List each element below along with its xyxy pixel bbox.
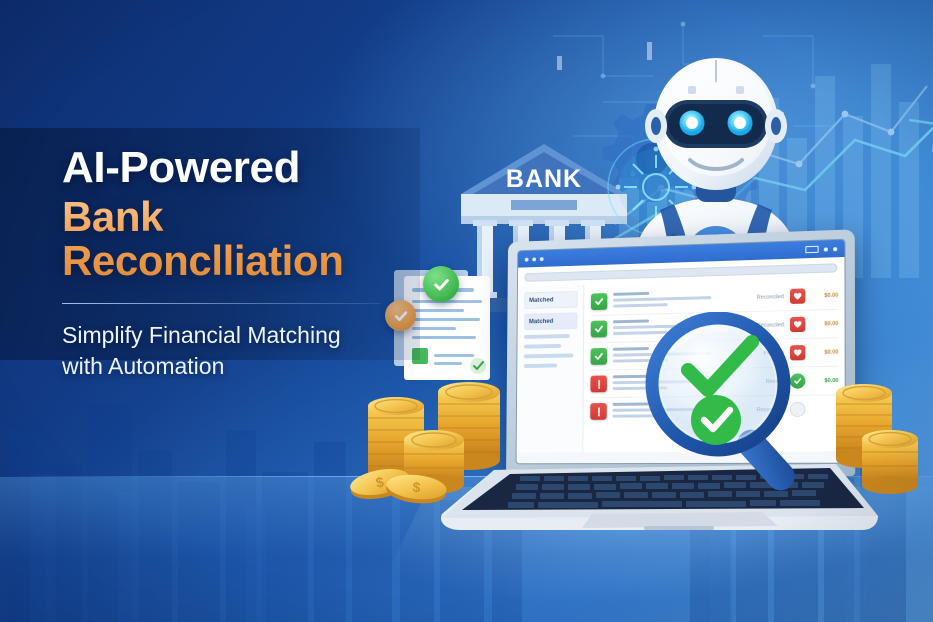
row-amount: $0.00 (811, 292, 838, 299)
sidebar-placeholder-line (524, 364, 557, 368)
maximize-icon[interactable] (824, 247, 828, 251)
check-icon (591, 348, 607, 365)
window-dots (525, 257, 544, 261)
sidebar-item-matched[interactable]: Matched (524, 291, 577, 309)
hero-copy: AI-Powered Bank Reconclliation Simplify … (62, 146, 422, 381)
row-status-label: Reconciled (739, 294, 784, 301)
divider (62, 303, 380, 304)
check-badge-icon (423, 266, 459, 302)
close-icon[interactable] (833, 247, 837, 251)
hero-banner: BANK (0, 0, 933, 622)
window-controls[interactable] (805, 245, 837, 253)
tagline-line1: Simplify Financial Matching (62, 320, 422, 351)
sidebar-placeholder-line (524, 334, 570, 339)
page-subtitle-accent: Bank Reconclliation (62, 195, 422, 283)
alert-icon (590, 403, 607, 420)
check-icon (591, 293, 607, 310)
page-title: AI-Powered (62, 146, 422, 191)
sidebar-placeholder-line (524, 344, 561, 349)
row-text (613, 289, 733, 310)
heart-icon (790, 288, 805, 304)
minimize-icon[interactable] (805, 246, 818, 253)
coin-stack-icon (806, 382, 928, 498)
sidebar-item-matched[interactable]: Matched (524, 312, 577, 330)
sidebar: Matched Matched (517, 285, 585, 453)
sidebar-placeholder-line (524, 353, 573, 358)
tagline-line2: with Automation (62, 351, 422, 382)
check-icon (591, 320, 607, 337)
bank-sign-label: BANK (506, 165, 582, 193)
coin-stack-icon: $ $ (342, 368, 524, 520)
magnifying-glass-icon (640, 312, 826, 502)
alert-icon (590, 375, 607, 392)
